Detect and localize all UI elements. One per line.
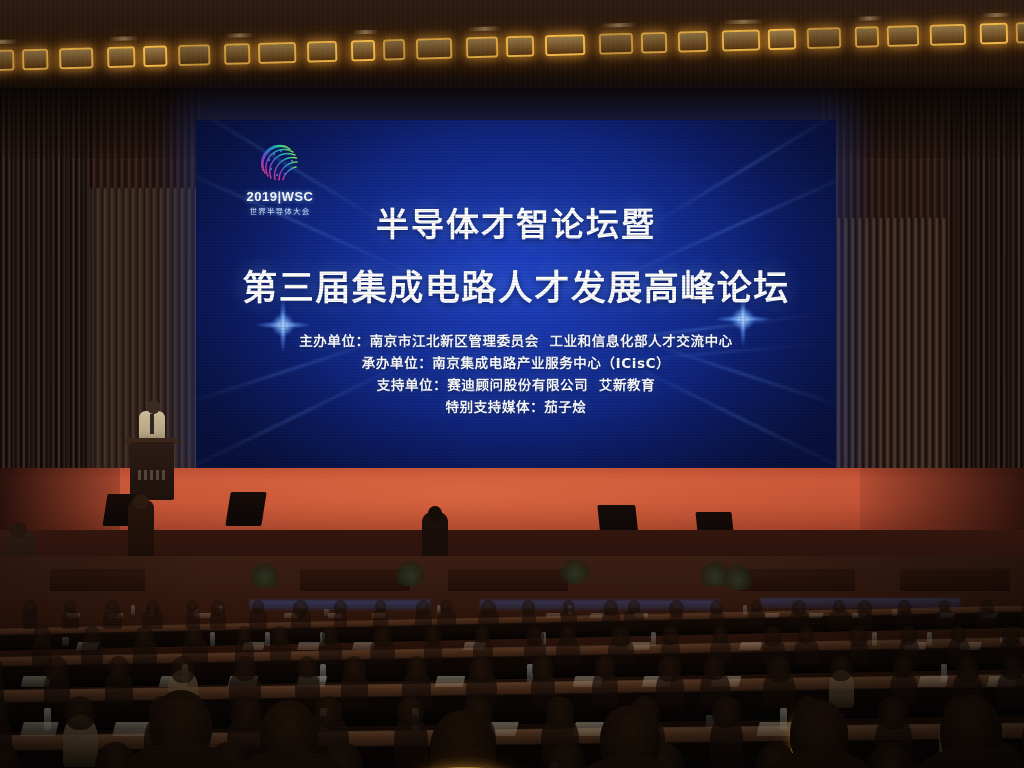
audience-member-head [469, 656, 493, 683]
audience-member-head [628, 600, 640, 613]
podium-logo [138, 470, 166, 480]
audience-member-head [211, 600, 225, 616]
ceiling-light [143, 45, 168, 67]
desk-paper [808, 613, 823, 618]
ceiling-light [224, 43, 251, 65]
audience-member-head [704, 656, 725, 680]
audience-member-head [713, 626, 728, 643]
speaker-tie [150, 414, 154, 434]
water-bottle [651, 632, 656, 646]
ceiling-light [768, 28, 797, 50]
audience-seating-area [0, 556, 1024, 768]
audience-member-head [252, 600, 264, 613]
audience-member-head [397, 696, 424, 726]
ambient-blue-glow [480, 600, 720, 610]
ceiling-light [178, 44, 211, 66]
desk-paper [546, 613, 561, 618]
ceiling-light [351, 40, 376, 62]
ceiling-light [416, 38, 453, 60]
audience-member-head [833, 600, 845, 613]
paper-cup [62, 637, 69, 646]
audience-member-head [532, 656, 554, 681]
water-bottle [927, 632, 932, 646]
rail-glint [723, 19, 763, 24]
audience-member-head [314, 696, 343, 728]
auditorium-ceiling [0, 0, 1024, 92]
water-bottle [743, 605, 747, 615]
audience-member-head [669, 600, 684, 617]
audience-member-head [611, 626, 630, 647]
rail-glint [0, 39, 18, 44]
event-credit-line: 支持单位：赛迪顾问股份有限公司 艾新教育 [196, 376, 836, 398]
ceiling-light [466, 36, 499, 58]
audience-member-head [546, 696, 574, 727]
water-bottle [872, 632, 877, 646]
audience-member-head [375, 600, 386, 612]
water-bottle [210, 632, 215, 646]
rail-glint [226, 33, 254, 38]
rear-wall-panel [900, 568, 1010, 591]
desk-paper [297, 642, 320, 650]
audience-member-head [662, 626, 679, 645]
audience-member-head [1002, 656, 1023, 680]
rail-glint [109, 36, 139, 41]
rear-wall-panel [300, 568, 410, 591]
event-title-line-1: 半导体才智论坛暨 [196, 198, 836, 246]
audience-member-head [849, 626, 868, 647]
ceiling-light [0, 50, 15, 72]
ceiling-light [545, 34, 586, 56]
rail-glint [468, 26, 502, 31]
ceiling-light [307, 41, 338, 63]
ceiling-light [807, 27, 842, 49]
audience-member-head [481, 600, 496, 617]
audience-member-head [297, 656, 317, 678]
event-credit-line: 承办单位：南京集成电路产业服务中心（ICisC） [196, 354, 836, 376]
audience-member-head [187, 600, 198, 612]
ceiling-light [258, 42, 297, 64]
audience-member-head [764, 626, 782, 646]
desk-paper [764, 613, 779, 618]
desk-paper [756, 722, 794, 736]
audience-member-head [293, 600, 308, 617]
audience-member-head [373, 626, 392, 647]
person-left-foreground-head [10, 522, 27, 539]
water-bottle [941, 664, 947, 682]
audience-member-head [475, 626, 490, 643]
water-bottle [780, 708, 787, 730]
stage-deck-right-shadow [860, 468, 1024, 534]
audience-member-head [900, 626, 917, 645]
ceiling-light [855, 26, 880, 48]
rail-glint [981, 13, 1011, 18]
water-bottle [320, 664, 326, 682]
audience-member-head [186, 626, 203, 645]
led-backdrop-screen: 2019|WSC 世界半导体大会 半导体才智论坛暨 第三届集成电路人才发展高峰论… [196, 120, 836, 472]
audience-member-head [560, 626, 576, 644]
audience-member-head [710, 600, 723, 615]
audience-member-head [563, 600, 574, 612]
decorative-plant [250, 562, 280, 588]
audience-member-head [105, 600, 120, 617]
ceiling-light [722, 29, 761, 51]
audience-member-head [231, 696, 262, 731]
audience-member-head [440, 600, 452, 613]
audience-member-head [45, 656, 68, 682]
ceiling-light [383, 39, 406, 61]
ceiling-light [107, 46, 136, 68]
rear-wall-panel [50, 568, 145, 591]
audience-member-head [878, 696, 908, 730]
rear-wall-panel [448, 568, 568, 591]
rail-glint [600, 23, 636, 28]
water-bottle [131, 605, 135, 615]
curtain-right-lit-section [836, 218, 948, 500]
rear-wall-panel [740, 568, 855, 591]
audience-member-head [798, 626, 814, 644]
event-credits-block: 主办单位：南京市江北新区管理委员会 工业和信息化部人才交流中心承办单位：南京集成… [196, 332, 836, 419]
conference-stage-photo: 2019|WSC 世界半导体大会 半导体才智论坛暨 第三届集成电路人才发展高峰论… [0, 0, 1024, 768]
water-bottle [265, 632, 270, 646]
audience-member-head [271, 626, 289, 646]
desk-paper [20, 722, 58, 736]
ceiling-light [1016, 22, 1024, 44]
audience-member-head [893, 656, 913, 678]
audience-member-head [604, 600, 618, 616]
desk-paper [739, 642, 762, 650]
audience-member-head [792, 600, 806, 616]
desk-paper [435, 676, 466, 687]
audience-member-head [956, 656, 979, 682]
speaker-head [147, 400, 160, 414]
audience-member-head [33, 626, 51, 646]
decorative-plant [723, 564, 753, 590]
audience-member-head [526, 626, 544, 646]
audience-member-head [65, 696, 95, 730]
audience-member-head [830, 656, 852, 681]
ceiling-light [678, 31, 709, 53]
ceiling-light [59, 47, 94, 69]
ceiling-light [22, 49, 49, 71]
ceiling-light [641, 32, 668, 54]
audience-member-head [406, 656, 427, 680]
audience-member-head [23, 600, 37, 616]
camera-operator-head [133, 494, 148, 509]
audience-member-head [64, 600, 76, 613]
wsc-globe-icon [257, 140, 303, 186]
audience-member-head [939, 600, 950, 612]
stage-monitor [225, 492, 266, 526]
audience-member-head [84, 626, 100, 644]
audience-member-head [751, 600, 762, 612]
audience-member-head [334, 600, 347, 615]
ceiling-light [599, 33, 634, 55]
audience-member-head [712, 696, 741, 728]
audience-member-head [595, 656, 615, 678]
audience-member-head [522, 600, 535, 615]
decorative-plant [560, 558, 590, 584]
rail-glint [856, 16, 882, 21]
rail-glint [353, 30, 379, 35]
audience-member-head [108, 656, 129, 680]
audience-member-head [416, 600, 430, 616]
ceiling-light [930, 24, 967, 46]
event-credit-line: 主办单位：南京市江北新区管理委员会 工业和信息化部人才交流中心 [196, 332, 836, 354]
audience-member-head [234, 656, 256, 681]
ceiling-light [980, 23, 1009, 45]
person-standing-head [428, 506, 442, 521]
audience-member-head [237, 626, 252, 643]
audience-member-head [1002, 626, 1020, 646]
audience-member-head [898, 600, 911, 615]
event-title-line-2: 第三届集成电路人才发展高峰论坛 [196, 260, 836, 311]
event-credit-line: 特别支持媒体：茄子烩 [196, 398, 836, 420]
audience-member-head [951, 626, 966, 643]
audience-member-head [135, 626, 154, 647]
ceiling-light [887, 25, 920, 47]
audience-member-head [424, 626, 441, 645]
audience-member-head [857, 600, 872, 617]
ceiling-light [506, 35, 535, 57]
audience-member-head [171, 656, 195, 683]
audience-member-head [322, 626, 338, 644]
audience-member-head [658, 656, 681, 682]
audience-member-head [146, 600, 159, 615]
audience-member-head [343, 656, 366, 682]
audience-member-head [767, 656, 791, 683]
water-bottle [44, 708, 51, 730]
audience-member-head [980, 600, 994, 616]
decorative-plant [395, 560, 425, 586]
